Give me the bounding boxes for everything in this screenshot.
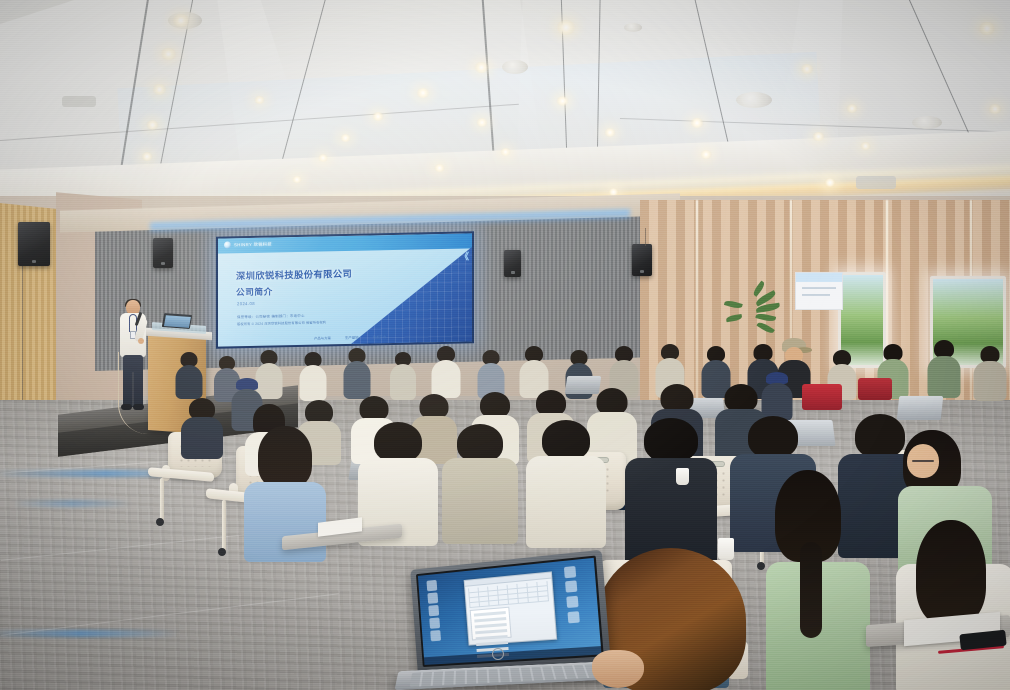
presenter-laptop xyxy=(162,313,192,329)
chair-caster xyxy=(757,562,765,570)
water-cup xyxy=(676,468,689,485)
red-bag xyxy=(858,378,892,400)
ceiling-downlight xyxy=(556,96,569,106)
ceiling-downlight xyxy=(254,96,265,104)
wall-poster xyxy=(795,272,843,310)
audience-person xyxy=(528,420,604,544)
slide-footer-item: 生产基地 xyxy=(345,335,359,340)
speaker-cable xyxy=(645,228,646,246)
poster-line xyxy=(802,294,830,296)
audience-person xyxy=(432,346,460,396)
laptop-screen xyxy=(418,558,602,665)
person-hair xyxy=(374,422,422,462)
ceiling-downlight xyxy=(292,176,302,183)
red-bag xyxy=(802,384,842,410)
ceiling-downlight xyxy=(604,128,616,137)
ceiling-downlight xyxy=(172,14,190,27)
ceiling-downlight xyxy=(812,132,825,141)
audience-person xyxy=(390,352,416,398)
company-logo-icon xyxy=(224,241,231,248)
person-torso xyxy=(928,356,961,398)
ceiling-downlight xyxy=(700,150,712,159)
wall-speaker xyxy=(632,244,652,276)
ceiling-downlight xyxy=(474,62,489,73)
audience-person xyxy=(444,424,516,540)
audience-person xyxy=(974,346,1006,398)
ceiling-downlight xyxy=(318,154,328,162)
audience-person xyxy=(176,352,202,396)
person-hair xyxy=(457,424,503,462)
person-torso xyxy=(442,458,518,544)
ceiling-downlight xyxy=(160,48,177,60)
ceiling-downlight xyxy=(141,152,153,161)
ceiling-downlight xyxy=(556,20,576,35)
poster-line xyxy=(802,287,836,289)
ceiling-downlight xyxy=(988,104,1002,114)
audience-person xyxy=(478,350,504,396)
person-hair xyxy=(916,520,986,624)
slide-company-title: 深圳欣锐科技股份有限公司 xyxy=(236,266,352,282)
person-hair xyxy=(661,384,694,412)
chair-leg xyxy=(160,478,164,522)
conference-room-photo: SHINRY 欣锐科技 《 深圳欣锐科技股份有限公司 公司简介 2024.08 … xyxy=(0,0,1010,690)
presenter-shoe xyxy=(133,404,144,410)
ceiling-downlight xyxy=(500,148,511,156)
slide-logo: SHINRY 欣锐科技 xyxy=(224,241,272,249)
person-torso xyxy=(432,360,461,398)
person-hair xyxy=(542,420,590,460)
person-torso xyxy=(974,361,1007,401)
slide-logo-text: SHINRY 欣锐科技 xyxy=(234,241,272,248)
foreground-laptop xyxy=(398,560,620,690)
audience-person xyxy=(344,348,370,396)
slide-footer-item: 产品与方案 xyxy=(314,335,331,340)
ceiling-downlight xyxy=(146,120,159,130)
slide-corner-mark: 《 xyxy=(460,249,469,262)
ceiling-downlight xyxy=(978,22,996,35)
audience-person xyxy=(628,418,714,562)
person-torso xyxy=(176,365,203,399)
slide-subtitle: 公司简介 xyxy=(236,286,273,299)
presenter-laptop-screen xyxy=(164,315,191,328)
person-hair xyxy=(597,388,628,415)
potted-plant xyxy=(736,282,780,348)
glasses-icon xyxy=(912,460,934,462)
audience-person-with-cap xyxy=(762,372,792,420)
wall-speaker xyxy=(153,238,173,268)
person-torso xyxy=(300,365,327,401)
presenter-hand xyxy=(138,338,144,344)
hp-logo-icon xyxy=(492,648,504,660)
person-torso xyxy=(526,456,606,548)
audience-woman-ponytail xyxy=(770,470,866,690)
person-torso xyxy=(244,482,326,562)
carpet-accent-stripe xyxy=(12,500,132,507)
person-hair xyxy=(855,414,905,458)
foreground-woman-hand xyxy=(592,650,644,688)
slide-meta-line-2: 版权所有 © 2024 深圳欣锐科技股份有限公司 保留所有权利 xyxy=(237,319,326,326)
wall-speaker xyxy=(18,222,50,266)
ceiling-downlight xyxy=(152,84,167,95)
slide-decorative-triangle xyxy=(346,245,472,346)
slide-date: 2024.08 xyxy=(237,301,255,306)
audience-person xyxy=(182,398,222,456)
person-torso xyxy=(344,361,371,399)
person-hair xyxy=(748,416,798,458)
audience-woman-white-top xyxy=(900,520,1010,690)
ceiling-downlight xyxy=(800,64,814,74)
laptop-open-window xyxy=(463,572,557,646)
ceiling-downlight xyxy=(690,118,704,128)
projection-screen: SHINRY 欣锐科技 《 深圳欣锐科技股份有限公司 公司简介 2024.08 … xyxy=(216,231,474,348)
laptop-lid xyxy=(410,550,611,677)
person-hair xyxy=(644,418,698,462)
ceiling-downlight xyxy=(434,164,445,172)
presentation-slide: SHINRY 欣锐科技 《 深圳欣锐科技股份有限公司 公司简介 2024.08 … xyxy=(218,233,472,346)
ceiling-downlight xyxy=(340,134,351,142)
ceiling-downlight xyxy=(416,88,430,98)
presenter xyxy=(120,300,146,432)
slide-meta-line-1: 保密等级：公司秘密 编制部门：市场中心 xyxy=(237,313,305,319)
poster-header xyxy=(796,273,842,282)
ceiling-downlight xyxy=(846,104,858,113)
wall-speaker xyxy=(504,250,521,277)
person-torso xyxy=(181,417,223,459)
chair-caster xyxy=(218,548,226,556)
chair-caster xyxy=(156,518,164,526)
slide-footer-item: 技术实力 xyxy=(373,334,387,339)
ceiling-downlight xyxy=(372,112,384,121)
ceiling-downlight xyxy=(824,178,836,187)
audience-person xyxy=(300,352,326,398)
person-hair xyxy=(725,384,758,412)
ceiling-downlight xyxy=(860,142,871,150)
person-hair xyxy=(258,426,312,488)
laptop-bezel xyxy=(416,556,604,668)
presenter-shoe xyxy=(121,404,132,410)
ceiling-downlight xyxy=(476,118,488,127)
chair-leg xyxy=(222,500,226,552)
audience-person xyxy=(928,340,960,396)
presenter-leg-gap xyxy=(132,372,134,406)
audience-person xyxy=(520,346,548,396)
slide-triangle-pattern xyxy=(346,245,472,346)
file-list xyxy=(470,607,511,641)
ponytail xyxy=(800,542,822,638)
